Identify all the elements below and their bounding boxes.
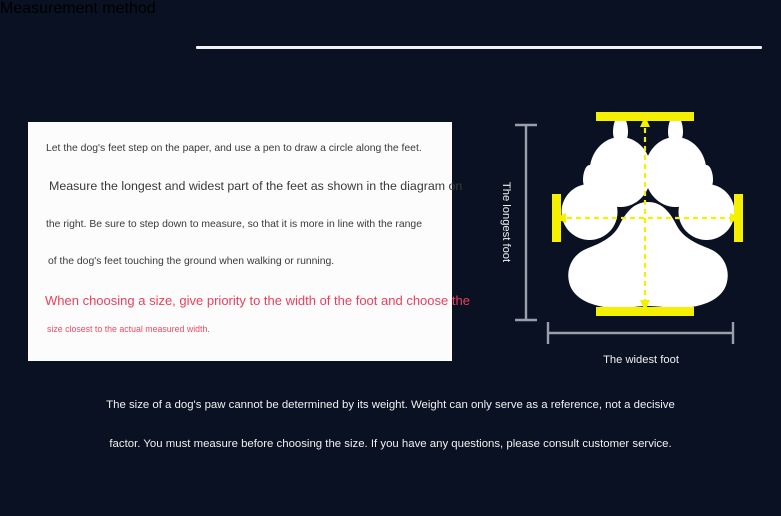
- instruction-line-2: Measure the longest and widest part of t…: [49, 180, 438, 192]
- footer-note: The size of a dog's paw cannot be determ…: [0, 400, 781, 451]
- instruction-highlight-line-1: When choosing a size, give priority to t…: [45, 294, 438, 307]
- page-header: Measurement method: [0, 0, 781, 92]
- widest-foot-bracket: [548, 322, 733, 344]
- dog-paw-shape: [562, 115, 735, 308]
- footer-line-1: The size of a dog's paw cannot be determ…: [0, 400, 781, 411]
- instruction-line-3: the right. Be sure to step down to measu…: [46, 220, 438, 230]
- paw-measurement-diagram: The longest foot The widest foot: [486, 92, 771, 377]
- footer-line-2: factor. You must measure before choosing…: [0, 439, 781, 450]
- widest-foot-label: The widest foot: [603, 354, 680, 366]
- longest-foot-label: The longest foot: [500, 182, 512, 263]
- instruction-highlight-line-2: size closest to the actual measured widt…: [47, 325, 438, 334]
- page-title: Measurement method: [0, 0, 781, 18]
- longest-foot-bracket: [515, 125, 537, 320]
- instruction-line-4: of the dog's feet touching the ground wh…: [48, 257, 438, 267]
- title-divider-line: [196, 46, 762, 49]
- instruction-card: Let the dog's feet step on the paper, an…: [28, 122, 452, 361]
- instruction-line-1: Let the dog's feet step on the paper, an…: [46, 144, 438, 154]
